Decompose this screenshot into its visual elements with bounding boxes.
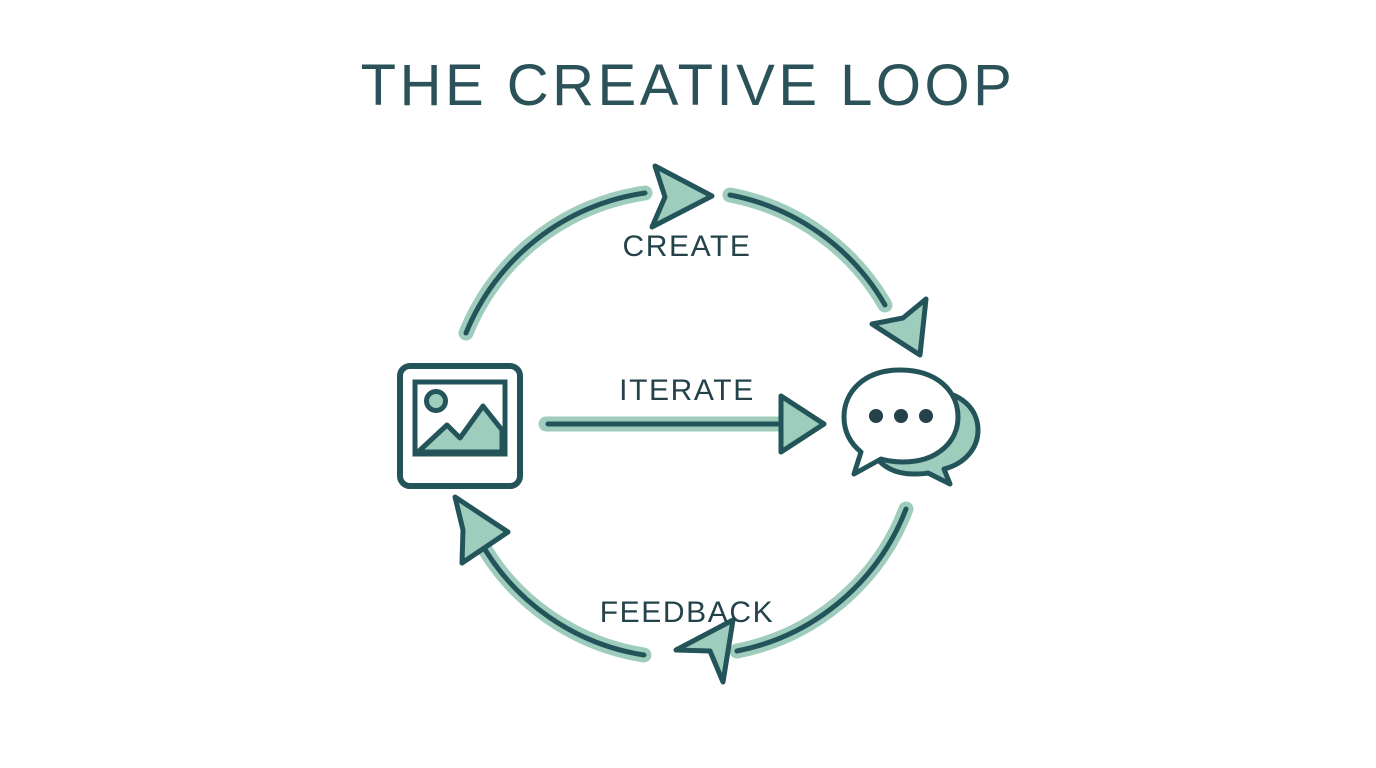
image-icon-sun	[427, 392, 446, 411]
chat-bubbles-icon[interactable]	[844, 370, 978, 484]
image-icon[interactable]	[400, 366, 520, 486]
arc-create-right	[730, 195, 926, 355]
arc-create-right-underlay	[730, 195, 885, 305]
arc-create-left-stroke	[466, 193, 645, 333]
arc-feedback-left	[455, 497, 644, 655]
chat-dot-1	[869, 409, 883, 423]
label-iterate: ITERATE	[619, 374, 755, 408]
arrowhead-iterate	[781, 396, 824, 452]
arc-create-left-underlay	[466, 193, 645, 333]
diagram-canvas: THE CREATIVE LOOP	[0, 0, 1376, 768]
chat-dot-2	[894, 409, 908, 423]
label-create: CREATE	[622, 230, 751, 264]
label-feedback: FEEDBACK	[600, 596, 775, 630]
arc-create-right-stroke	[730, 195, 885, 305]
arrowhead-create	[652, 166, 712, 227]
chat-dot-3	[919, 409, 933, 423]
